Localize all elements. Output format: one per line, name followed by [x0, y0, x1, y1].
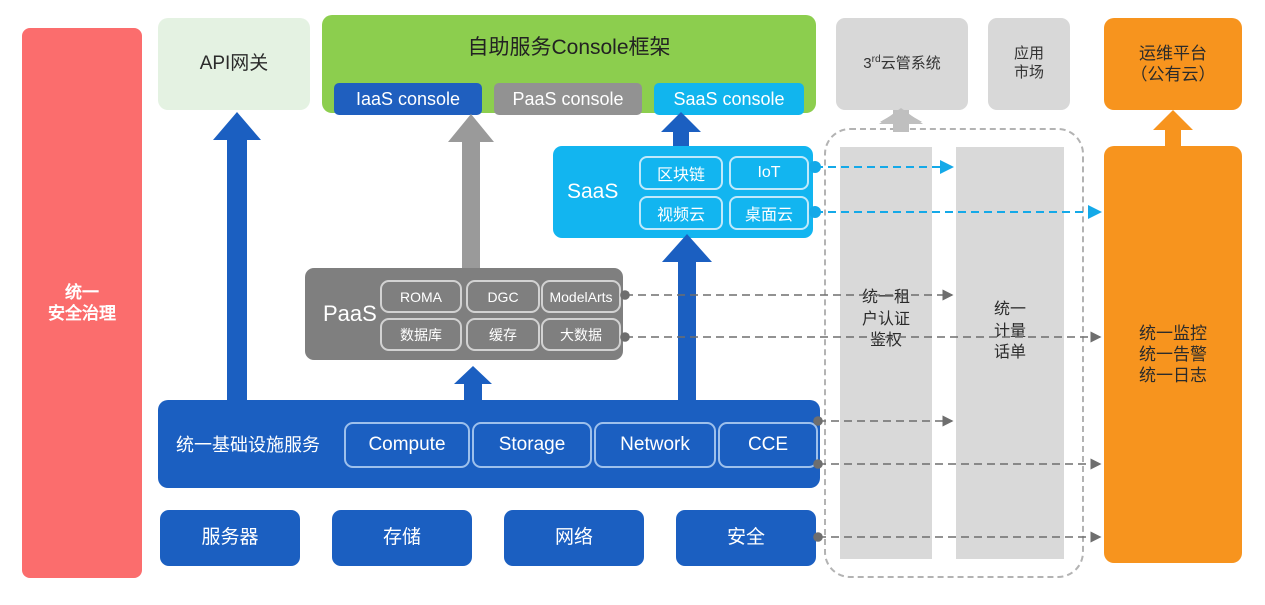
gray-column-metering-label: 统一计量话单: [956, 299, 1064, 364]
saas-tag-video-cloud-label: 视频云: [657, 201, 705, 225]
console-chip-saas[interactable]: SaaS console: [654, 83, 804, 115]
gray-column-auth: 统一租户认证鉴权: [840, 147, 932, 559]
hardware-box-server-label: 服务器: [201, 526, 258, 550]
unified-infrastructure-box: 统一基础设施服务 Compute Storage Network CCE: [158, 400, 820, 488]
iaas-tag-network-label: Network: [620, 434, 690, 456]
iaas-tag-compute-label: Compute: [368, 434, 445, 456]
third-party-prefix: 3: [863, 55, 871, 72]
saas-tag-desktop-cloud-label: 桌面云: [745, 201, 793, 225]
hardware-box-server: 服务器: [160, 510, 300, 566]
hardware-box-security-label: 安全: [727, 526, 765, 550]
third-party-cloud-mgmt-label: 3rd云管系统: [863, 54, 940, 74]
console-framework-title: 自助服务Console框架: [322, 31, 816, 61]
paas-tag-roma-label: ROMA: [400, 289, 442, 305]
api-gateway-label: API网关: [200, 52, 269, 76]
paas-layer-label: PaaS: [323, 301, 377, 327]
arrow-ops-side-to-ops-top: [1153, 110, 1193, 146]
saas-tag-video-cloud[interactable]: 视频云: [639, 196, 723, 230]
iaas-tag-network[interactable]: Network: [594, 422, 716, 468]
paas-tag-database-label: 数据库: [400, 325, 442, 345]
console-chip-saas-label: SaaS console: [673, 89, 784, 110]
paas-tag-dgc-label: DGC: [487, 289, 518, 305]
gray-column-metering: 统一计量话单: [956, 147, 1064, 559]
hardware-box-network: 网络: [504, 510, 644, 566]
console-framework-box: 自助服务Console框架 IaaS console PaaS console …: [322, 15, 816, 113]
unified-infrastructure-label: 统一基础设施服务: [176, 431, 320, 457]
iaas-tag-cce[interactable]: CCE: [718, 422, 818, 468]
paas-layer-box: PaaS ROMA DGC ModelArts 数据库 缓存 大数据: [305, 268, 623, 360]
hardware-box-storage-label: 存储: [383, 526, 421, 550]
gray-column-auth-label: 统一租户认证鉴权: [840, 287, 932, 352]
hardware-box-storage: 存储: [332, 510, 472, 566]
arrow-iaas-to-paas: [454, 366, 492, 400]
paas-tag-modelarts-label: ModelArts: [549, 289, 612, 305]
saas-tag-blockchain-label: 区块链: [657, 161, 705, 185]
ops-platform-public-cloud-label: 运维平台（公有云）: [1131, 43, 1216, 86]
hardware-box-network-label: 网络: [555, 526, 593, 550]
paas-tag-cache[interactable]: 缓存: [466, 318, 540, 351]
ops-platform-side-label: 统一监控统一告警统一日志: [1139, 323, 1207, 387]
saas-layer-box: SaaS 区块链 IoT 视频云 桌面云: [553, 146, 813, 238]
paas-tag-cache-label: 缓存: [489, 325, 517, 345]
saas-layer-label: SaaS: [567, 180, 618, 204]
third-party-cloud-mgmt-box: 3rd云管系统: [836, 18, 968, 110]
paas-tag-database[interactable]: 数据库: [380, 318, 462, 351]
saas-tag-iot-label: IoT: [757, 164, 780, 182]
api-gateway-box: API网关: [158, 18, 310, 110]
architecture-diagram: 统一安全治理 API网关 自助服务Console框架 IaaS console …: [0, 0, 1265, 605]
paas-tag-dgc[interactable]: DGC: [466, 280, 540, 313]
paas-tag-roma[interactable]: ROMA: [380, 280, 462, 313]
ops-platform-side-box: 统一监控统一告警统一日志: [1104, 146, 1242, 563]
third-party-suffix: 云管系统: [881, 55, 941, 72]
console-chip-paas-label: PaaS console: [512, 89, 623, 110]
console-chip-iaas-label: IaaS console: [356, 89, 460, 110]
console-chip-paas[interactable]: PaaS console: [494, 83, 642, 115]
arrow-paas-to-console: [448, 114, 494, 268]
security-governance-band: 统一安全治理: [22, 28, 142, 578]
iaas-tag-compute[interactable]: Compute: [344, 422, 470, 468]
app-market-label: 应用市场: [1014, 45, 1044, 83]
iaas-tag-cce-label: CCE: [748, 434, 788, 456]
saas-tag-blockchain[interactable]: 区块链: [639, 156, 723, 190]
arrow-saas-to-console: [661, 112, 701, 146]
paas-tag-modelarts[interactable]: ModelArts: [541, 280, 621, 313]
console-chip-iaas[interactable]: IaaS console: [334, 83, 482, 115]
security-governance-label: 统一安全治理: [48, 282, 116, 325]
paas-tag-bigdata[interactable]: 大数据: [541, 318, 621, 351]
hardware-box-security: 安全: [676, 510, 816, 566]
iaas-tag-storage-label: Storage: [499, 434, 566, 456]
saas-tag-iot[interactable]: IoT: [729, 156, 809, 190]
iaas-tag-storage[interactable]: Storage: [472, 422, 592, 468]
app-market-box: 应用市场: [988, 18, 1070, 110]
arrow-iaas-to-saas: [662, 234, 712, 400]
third-party-superscript: rd: [872, 54, 881, 65]
arrow-iaas-to-api-gateway: [213, 112, 261, 400]
ops-platform-public-cloud-box: 运维平台（公有云）: [1104, 18, 1242, 110]
paas-tag-bigdata-label: 大数据: [560, 325, 602, 345]
saas-tag-desktop-cloud[interactable]: 桌面云: [729, 196, 809, 230]
